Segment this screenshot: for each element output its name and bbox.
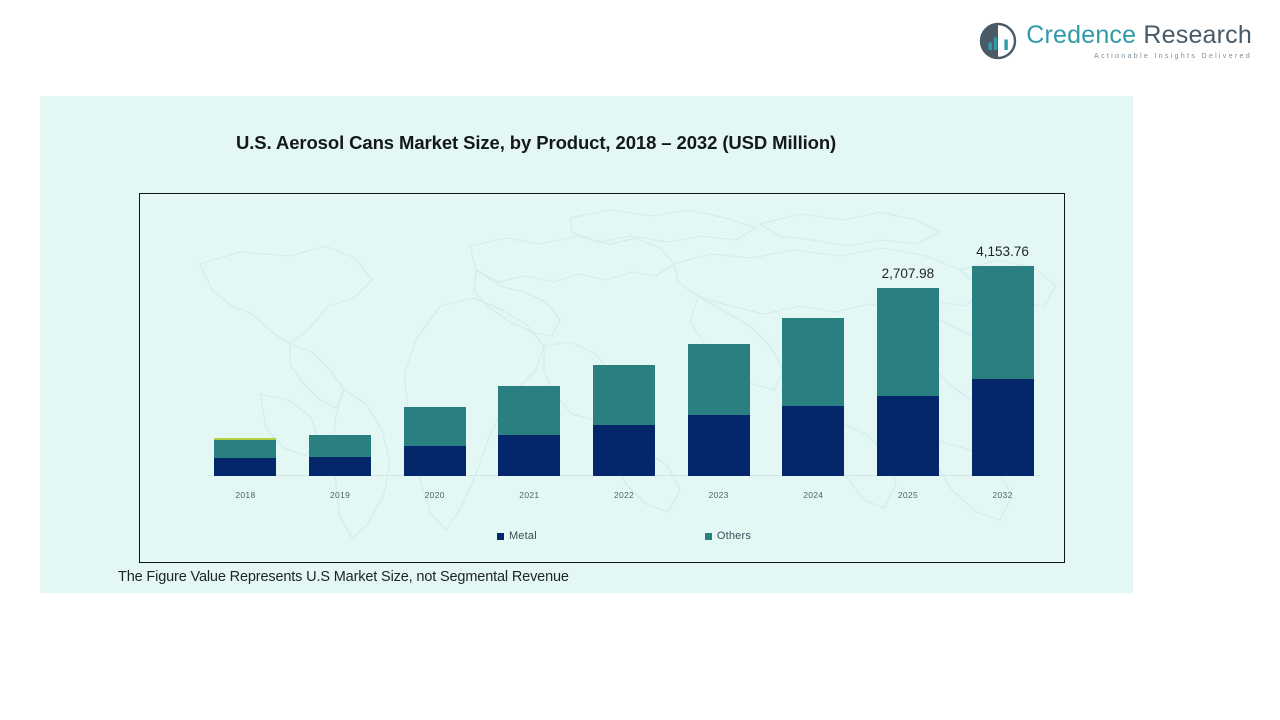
plot-frame: USD Million	[139, 193, 1065, 563]
bar-series-container: 2,707.98 4,153.76	[208, 194, 1040, 476]
x-tick-2021: 2021	[492, 490, 567, 500]
bar-segment-metal[interactable]	[877, 396, 939, 476]
legend-item-others[interactable]: Others	[705, 530, 751, 542]
bar-group-2025[interactable]: 2,707.98	[870, 194, 945, 476]
bar-stack[interactable]	[404, 407, 466, 476]
bar-segment-metal[interactable]	[214, 458, 276, 476]
x-tick-2019: 2019	[303, 490, 378, 500]
bar-group-2021[interactable]	[492, 194, 567, 476]
report-panel: U.S. Aerosol Cans Market Size, by Produc…	[40, 96, 1133, 593]
bar-segment-metal[interactable]	[404, 446, 466, 476]
bar-stack[interactable]	[309, 435, 371, 477]
bar-stack[interactable]	[214, 438, 276, 477]
bar-segment-metal[interactable]	[688, 415, 750, 476]
chart-legend: Metal Others	[208, 530, 1040, 542]
bar-segment-metal[interactable]	[498, 435, 560, 476]
bar-group-2018[interactable]	[208, 194, 283, 476]
x-tick-2032: 2032	[965, 490, 1040, 500]
legend-label-metal: Metal	[509, 530, 537, 542]
bar-group-2020[interactable]	[397, 194, 472, 476]
bar-stack[interactable]	[782, 318, 844, 476]
bar-segment-others[interactable]	[309, 435, 371, 458]
brand-name-part2: Research	[1143, 21, 1252, 49]
bar-stack[interactable]: 2,707.98	[877, 288, 939, 476]
x-tick-2020: 2020	[397, 490, 472, 500]
chart-title: U.S. Aerosol Cans Market Size, by Produc…	[236, 132, 1096, 154]
bar-segment-others[interactable]	[972, 266, 1034, 379]
bar-segment-others[interactable]	[498, 386, 560, 435]
bar-group-2022[interactable]	[587, 194, 662, 476]
bar-value-label: 4,153.76	[976, 244, 1029, 259]
x-tick-2018: 2018	[208, 490, 283, 500]
brand-tagline: Actionable Insights Delivered	[1026, 52, 1252, 59]
bar-stack[interactable]: 4,153.76	[972, 266, 1034, 476]
credence-bar-chart-circle-icon	[979, 22, 1017, 60]
legend-swatch-others-icon	[705, 533, 712, 540]
bar-group-2023[interactable]	[681, 194, 756, 476]
bar-group-2032[interactable]: 4,153.76	[965, 194, 1040, 476]
bar-stack[interactable]	[498, 386, 560, 476]
legend-label-others: Others	[717, 530, 751, 542]
bar-stack[interactable]	[688, 344, 750, 476]
bar-segment-metal[interactable]	[309, 457, 371, 476]
bar-value-label: 2,707.98	[882, 266, 935, 281]
bar-segment-others[interactable]	[593, 365, 655, 425]
x-tick-2022: 2022	[587, 490, 662, 500]
legend-item-metal[interactable]: Metal	[497, 530, 537, 542]
bar-segment-others[interactable]	[877, 288, 939, 396]
bar-group-2019[interactable]	[303, 194, 378, 476]
bar-segment-metal[interactable]	[972, 379, 1034, 476]
plot-area: 2,707.98 4,153.76 2018 2019	[208, 194, 1040, 562]
bar-stack[interactable]	[593, 365, 655, 476]
x-tick-2024: 2024	[776, 490, 851, 500]
bar-segment-others[interactable]	[404, 407, 466, 446]
bar-segment-metal[interactable]	[593, 425, 655, 476]
brand-name: Credence Research	[1026, 23, 1252, 48]
bar-segment-others[interactable]	[782, 318, 844, 406]
brand-name-part1: Credence	[1026, 21, 1136, 49]
bar-group-2024[interactable]	[776, 194, 851, 476]
bar-segment-others[interactable]	[214, 440, 276, 458]
legend-swatch-metal-icon	[497, 533, 504, 540]
x-tick-2023: 2023	[681, 490, 756, 500]
x-tick-2025: 2025	[870, 490, 945, 500]
brand-text: Credence Research Actionable Insights De…	[1026, 23, 1252, 59]
figure-note: The Figure Value Represents U.S Market S…	[118, 569, 569, 585]
brand-logo: Credence Research Actionable Insights De…	[979, 22, 1252, 60]
bar-segment-metal[interactable]	[782, 406, 844, 476]
bar-segment-others[interactable]	[688, 344, 750, 415]
x-axis-tick-labels: 2018 2019 2020 2021 2022 2023 2024 2025 …	[208, 490, 1040, 500]
